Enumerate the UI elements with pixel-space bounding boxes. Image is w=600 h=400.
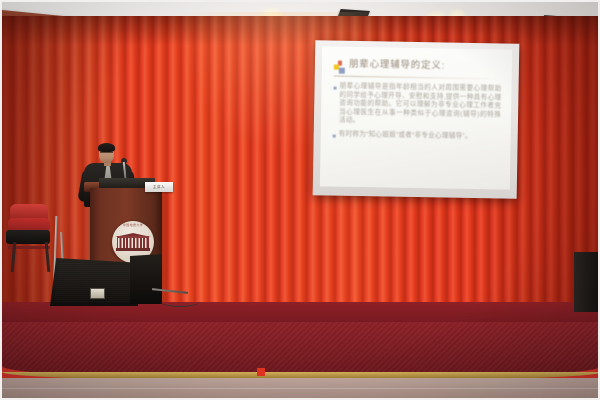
emblem-building-base xyxy=(116,248,150,251)
bullet-marker-icon xyxy=(333,135,336,138)
slide-bullet-text: 有时称为“知心姐姐”或者“非专业心理辅导”。 xyxy=(339,131,472,142)
emblem-top-text: 中国地质大学 xyxy=(112,223,154,227)
projection-screen: 朋辈心理辅导的定义: 朋辈心理辅导是指年龄相当的人对周围需要心理帮助的同学给予心… xyxy=(313,40,520,199)
hall-floor xyxy=(2,378,600,400)
auditorium-photo: 朋辈心理辅导的定义: 朋辈心理辅导是指年龄相当的人对周围需要心理帮助的同学给予心… xyxy=(0,0,600,400)
stage-monitor-speaker xyxy=(130,254,162,304)
audio-cable xyxy=(160,296,200,307)
floor-seam-line xyxy=(2,388,600,389)
slide-title-underline xyxy=(334,76,502,80)
speaker-hair xyxy=(98,143,115,152)
slide-bullet: 有时称为“知心姐姐”或者“非专业心理辅导”。 xyxy=(333,131,501,143)
lectern-nameplate: 主讲人 xyxy=(145,182,173,192)
emblem-building-columns xyxy=(118,238,148,248)
stage-edge-marker xyxy=(257,368,265,376)
powerpoint-color-blocks-icon xyxy=(334,61,345,74)
slide-bullet: 朋辈心理辅导是指年龄相当的人对周围需要心理帮助的同学给予心理开导、安慰和支持,提… xyxy=(333,83,502,129)
lectern-nameplate-text: 主讲人 xyxy=(153,185,165,190)
stage-monitor-badge xyxy=(90,288,105,299)
presentation-slide: 朋辈心理辅导的定义: 朋辈心理辅导是指年龄相当的人对周围需要心理帮助的同学给予心… xyxy=(320,46,512,189)
screen-surface: 朋辈心理辅导的定义: 朋辈心理辅导是指年龄相当的人对周围需要心理帮助的同学给予心… xyxy=(320,46,512,189)
speaker-glasses xyxy=(100,152,113,156)
dark-object-right xyxy=(574,252,600,312)
bullet-marker-icon xyxy=(334,87,337,90)
slide-title-row: 朋辈心理辅导的定义: xyxy=(334,59,502,77)
slide-bullet-text: 朋辈心理辅导是指年龄相当的人对周围需要心理帮助的同学给予心理开导、安慰和支持,提… xyxy=(339,83,502,129)
slide-title: 朋辈心理辅导的定义: xyxy=(349,59,445,73)
